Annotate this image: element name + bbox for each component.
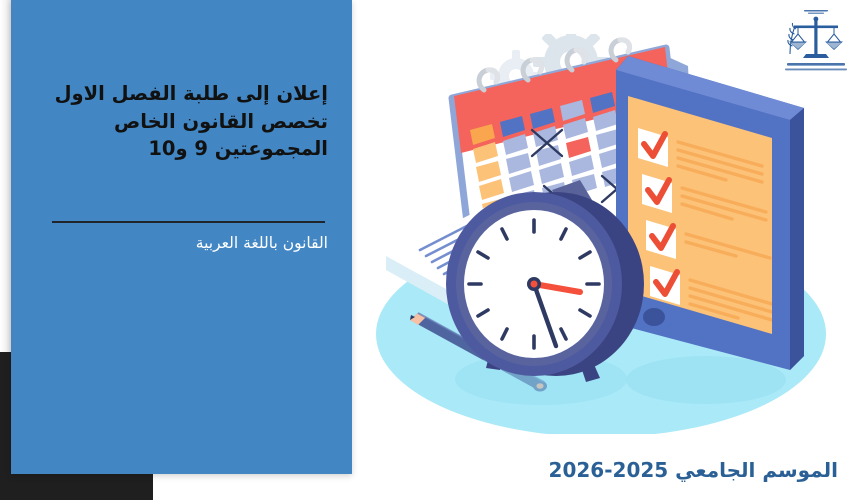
deadline-illustration [366, 34, 836, 434]
logo-top-text-glyphs [804, 10, 828, 14]
poster-canvas: إعلان إلى طلبة الفصل الاول تخصص القانون … [0, 0, 860, 500]
page-subtitle: القانون باللغة العربية [38, 232, 328, 254]
page-title: إعلان إلى طلبة الفصل الاول تخصص القانون … [38, 80, 328, 163]
tablet-home-button [643, 308, 665, 326]
title-divider [52, 221, 325, 223]
academic-season-label: الموسم الجامعي 2025-2026 [549, 458, 838, 482]
announcement-panel: إعلان إلى طلبة الفصل الاول تخصص القانون … [11, 0, 352, 474]
